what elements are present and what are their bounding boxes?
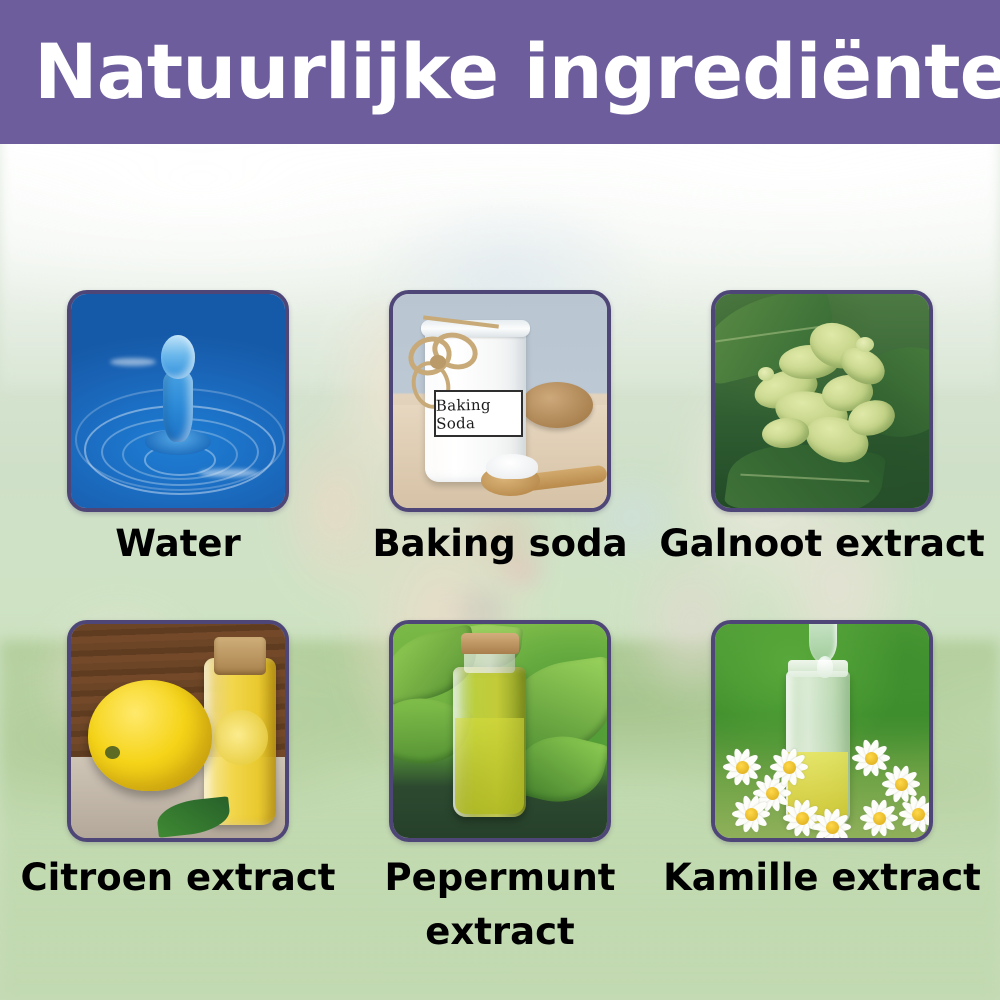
ingredient-image-kamille[interactable]: [711, 620, 933, 842]
lemon-icon: [71, 624, 285, 838]
ingredient-image-water[interactable]: [67, 290, 289, 512]
gall-nut-icon: [715, 294, 929, 508]
ingredient-card-pepermunt[interactable]: Pepermunt extract: [389, 620, 611, 958]
ingredient-label-pepermunt: Pepermunt extract: [335, 851, 665, 958]
ingredient-card-galnoot[interactable]: Galnoot extract: [711, 290, 933, 566]
ingredient-label-galnoot: Galnoot extract: [659, 521, 984, 566]
jar-label-text: Baking Soda: [435, 395, 521, 432]
ingredient-label-baking-soda: Baking soda: [372, 521, 627, 566]
ingredient-image-citroen[interactable]: [67, 620, 289, 842]
jar-label: Baking Soda: [434, 390, 524, 437]
ingredient-label-kamille: Kamille extract: [657, 851, 987, 905]
page-title: Natuurlijke ingrediënten: [34, 34, 1000, 110]
ingredients-row-2: Citroen extract: [0, 620, 1000, 958]
ingredient-card-kamille[interactable]: Kamille extract: [711, 620, 933, 958]
ingredient-label-citroen: Citroen extract: [13, 851, 343, 905]
ingredient-image-pepermunt[interactable]: [389, 620, 611, 842]
ingredient-card-citroen[interactable]: Citroen extract: [67, 620, 289, 958]
ingredient-label-water: Water: [115, 521, 241, 566]
peppermint-oil-icon: [393, 624, 607, 838]
ingredients-poster: Natuurlijke ingrediënten: [0, 0, 1000, 1000]
ingredient-card-baking-soda[interactable]: Baking Soda Baking soda: [389, 290, 611, 566]
water-droplet-icon: [71, 294, 285, 508]
chamomile-oil-icon: [715, 624, 929, 838]
ingredient-image-baking-soda[interactable]: Baking Soda: [389, 290, 611, 512]
header-banner: Natuurlijke ingrediënten: [0, 0, 1000, 144]
ingredient-card-water[interactable]: Water: [67, 290, 289, 566]
ingredients-row-1: Water Baki: [0, 290, 1000, 566]
ingredient-image-galnoot[interactable]: [711, 290, 933, 512]
ingredients-grid: Water Baki: [0, 144, 1000, 1000]
baking-soda-jar-icon: Baking Soda: [393, 294, 607, 508]
